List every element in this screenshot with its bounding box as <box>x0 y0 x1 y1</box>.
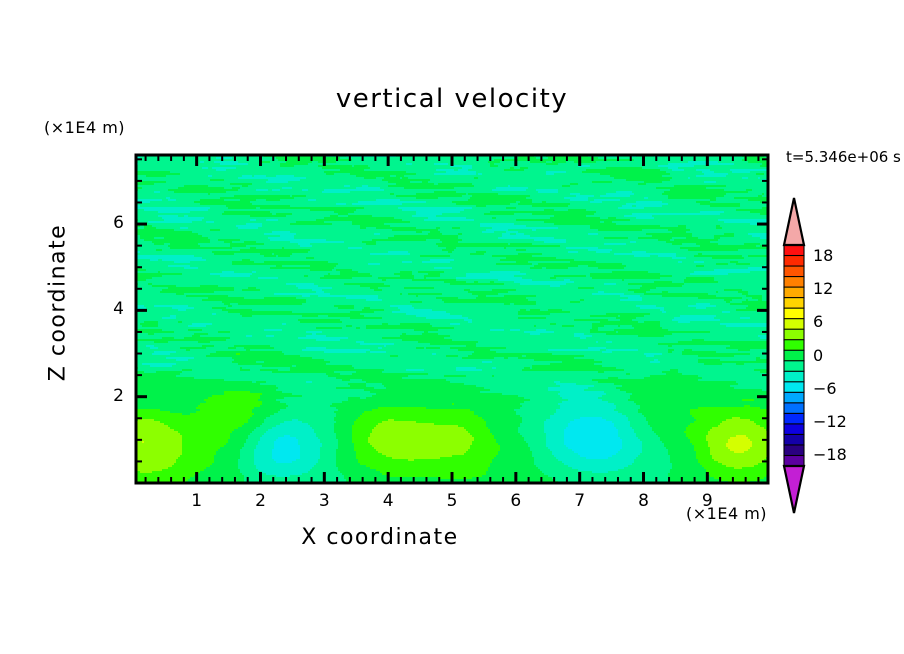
colorbar-tick-label: 18 <box>813 246 833 265</box>
x-tick-label: 3 <box>304 491 344 511</box>
x-tick-label: 5 <box>432 491 472 511</box>
colorbar <box>784 198 804 513</box>
colorbar-tick-label: −12 <box>813 412 847 431</box>
x-tick-label: 9 <box>687 491 727 511</box>
colorbar-tick-label: 6 <box>813 312 823 331</box>
y-tick-label: 2 <box>90 386 124 406</box>
colorbar-tick-label: −6 <box>813 379 837 398</box>
colorbar-tick-label: 12 <box>813 279 833 298</box>
contour-field <box>136 155 769 484</box>
x-tick-label: 4 <box>368 491 408 511</box>
colorbar-tick-label: 0 <box>813 346 823 365</box>
contour-plot-figure: vertical velocity (×1E4 m) t=5.346e+06 s… <box>0 0 904 654</box>
plot-canvas <box>0 0 904 654</box>
y-tick-label: 6 <box>90 213 124 233</box>
colorbar-tick-label: −18 <box>813 445 847 464</box>
x-tick-label: 6 <box>496 491 536 511</box>
x-tick-label: 1 <box>177 491 217 511</box>
x-tick-label: 2 <box>240 491 280 511</box>
y-tick-label: 4 <box>90 299 124 319</box>
x-tick-label: 8 <box>624 491 664 511</box>
x-tick-label: 7 <box>560 491 600 511</box>
